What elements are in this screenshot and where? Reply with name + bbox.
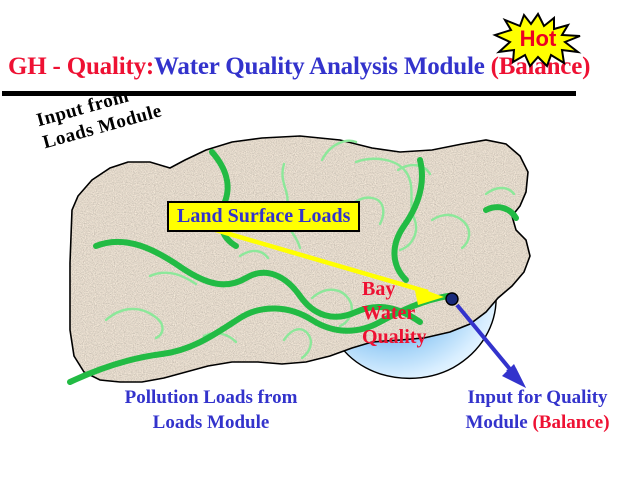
quality-caption-line2: Module (Balance)	[440, 410, 635, 435]
land-surface-loads-callout[interactable]: Land Surface Loads	[167, 201, 360, 232]
slide-canvas: GH - Quality:Water Quality Analysis Modu…	[0, 0, 640, 480]
pollution-loads-caption: Pollution Loads from Loads Module	[86, 385, 336, 435]
land-surface-loads-label: Land Surface Loads	[177, 205, 350, 227]
title-prefix: GH - Quality:	[8, 53, 154, 80]
quality-module-caption: Input for Quality Module (Balance)	[440, 385, 635, 435]
hot-badge-label: Hot	[492, 26, 584, 52]
map-graphic	[0, 100, 640, 400]
quality-caption-line1: Input for Quality	[440, 385, 635, 410]
quality-caption-module: Module	[465, 412, 532, 433]
bay-water-quality-label: Bay Water Quality	[362, 277, 450, 349]
hot-badge: Hot	[492, 12, 584, 68]
pollution-caption-line2: Loads Module	[86, 410, 336, 435]
bay-label-line2: Water	[362, 301, 450, 325]
quality-caption-balance: (Balance)	[532, 412, 609, 433]
title-main: Water Quality Analysis Module	[154, 53, 491, 80]
map-svg	[0, 100, 640, 400]
bay-label-line3: Quality	[362, 325, 450, 349]
bay-label-line1: Bay	[362, 277, 450, 301]
pollution-caption-line1: Pollution Loads from	[86, 385, 336, 410]
